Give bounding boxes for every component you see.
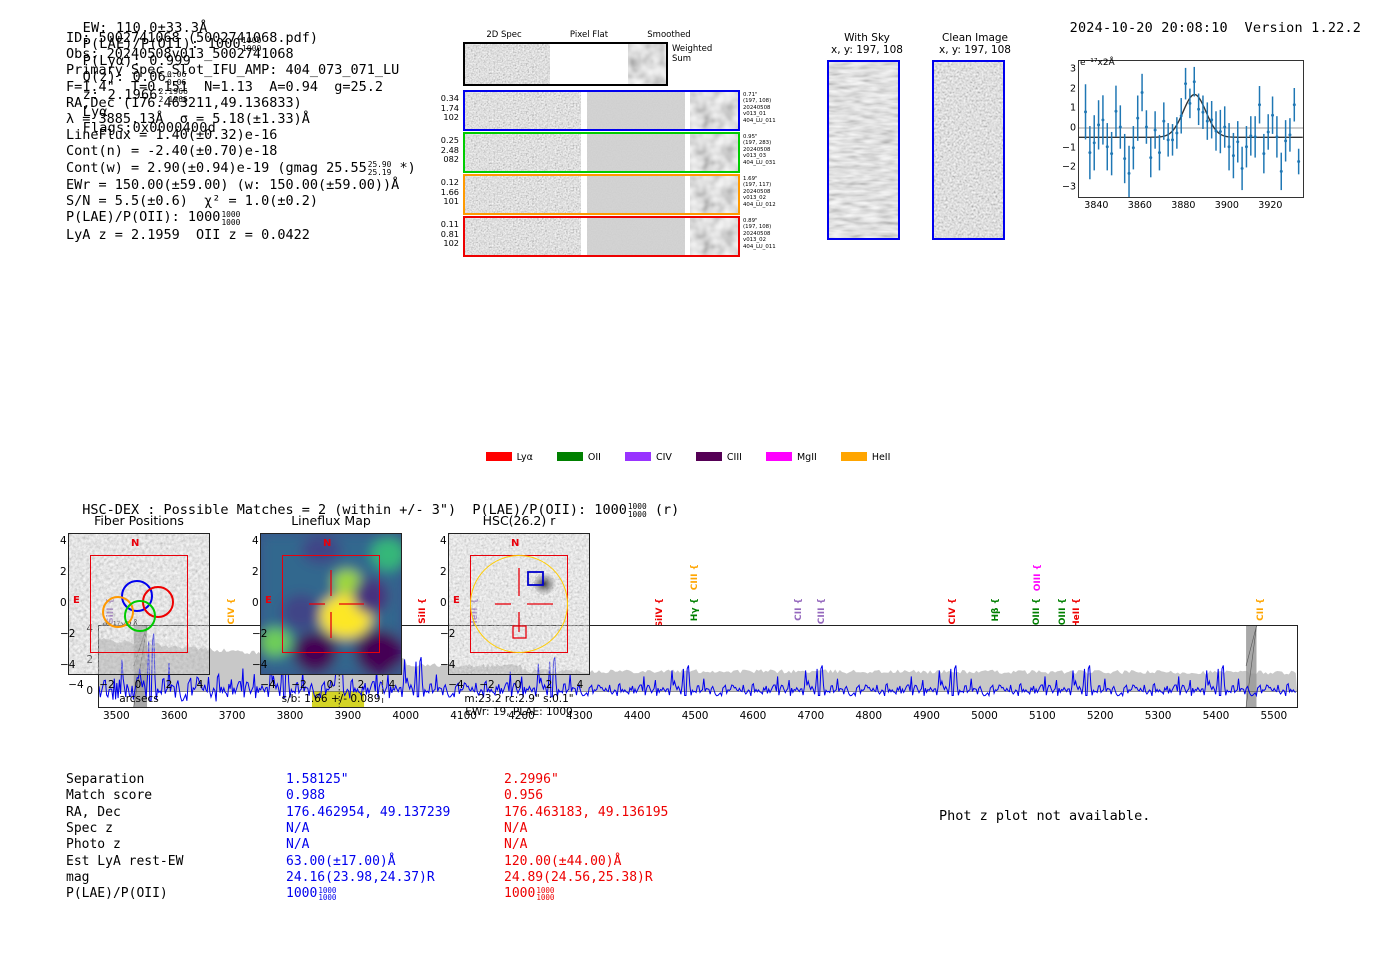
fiber-circle-green	[124, 600, 156, 632]
hsc-r-image	[448, 533, 590, 675]
emission-line-label-oiii-14: OIII {	[1058, 598, 1068, 625]
legend-swatch-civ	[625, 452, 651, 461]
legend-item-lyα: Lyα	[486, 452, 533, 463]
line-fit-ytick: −1	[1062, 142, 1076, 153]
cutout-ytick: 0	[60, 597, 62, 609]
line-fit-ytick: −3	[1062, 182, 1076, 193]
spectrum-xtick: 3500	[103, 710, 130, 722]
spectrum-xtick: 4600	[740, 710, 767, 722]
cutout-ytick: −2	[60, 628, 62, 640]
cutout-ytick: 4	[60, 535, 62, 547]
header-datetime: 2024-10-20 20:08:10	[1070, 20, 1228, 36]
fiber-info-1: 0.95"(197, 283)20240508v013_03404_LU_031	[743, 134, 776, 166]
fiber-row-0	[463, 90, 740, 131]
fiber-info-1-line1: (197, 283)	[743, 140, 776, 146]
match-col1-value-4: N/A	[286, 837, 309, 853]
line-fit-xtick: 3860	[1128, 200, 1152, 211]
info-cont-n: Cont(n) = -2.40(±0.70)e-18	[66, 143, 416, 159]
spectrum-xtick: 4500	[682, 710, 709, 722]
match-label-2: RA, Dec	[66, 805, 121, 821]
match-col1-value-5: 63.00(±17.00)Å	[286, 854, 396, 870]
fiber-values-0: 0.341.74102	[425, 94, 459, 123]
info-sn-chi2: S/N = 5.5(±0.6) χ² = 1.0(±0.2)	[66, 193, 416, 209]
spectrum-xtick: 5100	[1029, 710, 1056, 722]
hsc-r-caption-line1: m:23.2 rc:2.9" s:0.1"	[434, 693, 604, 706]
spec2d-col-header-smoothed: Smoothed	[629, 30, 709, 40]
emission-line-label-oiii-12: OIII {	[1033, 564, 1043, 591]
info-ewr: EWr = 150.00(±59.00) (w: 150.00(±59.00))…	[66, 177, 416, 193]
cutout-ytick: −4	[60, 659, 62, 671]
match-label-1: Match score	[66, 788, 152, 804]
line-fit-data	[1079, 61, 1303, 197]
photz-note: Phot z plot not available.	[939, 808, 1150, 824]
spectrum-xtick: 5300	[1145, 710, 1172, 722]
with-sky-noise	[829, 62, 898, 238]
fiber-row-1	[463, 132, 740, 173]
line-fit-xtick: 3840	[1084, 200, 1108, 211]
legend-item-ciii: CIII	[696, 452, 742, 463]
match-col1-value-6: 24.16(23.98,24.37)R	[286, 870, 435, 886]
emission-line-label-hγ-6: Hγ {	[690, 598, 700, 621]
line-fit-ytick: 0	[1070, 123, 1076, 134]
cutout-xtick: 4	[389, 679, 396, 691]
spec2d-weighted-sum-label: Weighted Sum	[672, 44, 712, 64]
info-plae-text: P(LAE)/P(OII): 1000	[66, 209, 220, 225]
header-version: Version 1.22.2	[1245, 20, 1362, 36]
fiber-positions-image	[68, 533, 210, 675]
line-fit-ytick: 1	[1070, 103, 1076, 114]
source-info-block: ID: 5002741068 (5002741068.pdf) Obs: 202…	[66, 30, 416, 243]
cutout-ytick: 0	[440, 597, 442, 609]
info-primary-spec-slot: Primary Spec_Slot_IFU_AMP: 404_073_071_L…	[66, 62, 416, 78]
spectrum-xtick: 4900	[913, 710, 940, 722]
info-cont-w-suffix: *)	[391, 160, 415, 176]
cutout-ytick: −4	[440, 659, 442, 671]
legend-item-heii: HeII	[841, 452, 891, 463]
spec2d-col-header-pixelflat: Pixel Flat	[549, 30, 629, 40]
spectrum-xtick: 4700	[797, 710, 824, 722]
fiber-info-3: 0.89"(197, 108)20240508v013_02404_LU_011	[743, 218, 776, 250]
line-fit-ytick: 3	[1070, 63, 1076, 74]
emission-line-label-oiii-13: OIII {	[1032, 598, 1042, 625]
emission-line-label-ciii-9: CIII {	[817, 598, 827, 624]
match-label-5: Est LyA rest-EW	[66, 854, 183, 870]
info-id: ID: 5002741068 (5002741068.pdf)	[66, 30, 416, 46]
match-col2-fraction: 10001000	[536, 887, 554, 902]
legend-label-lyα: Lyα	[517, 452, 533, 463]
info-cont-w: Cont(w) = 2.90(±0.94)e-19 (gmag 25.5525.…	[66, 160, 416, 177]
clean-image-noise	[934, 62, 1003, 238]
fiber-row-image-3	[465, 218, 738, 256]
hsc-r-north: N	[511, 538, 519, 549]
info-plae: P(LAE)/P(OII): 100010001000	[66, 209, 416, 226]
emission-line-label-siii-3: SiII {	[418, 598, 428, 624]
match-col2-value-1: 0.956	[504, 788, 543, 804]
lineflux-map-east: E	[265, 595, 272, 606]
spectrum-xtick: 4400	[624, 710, 651, 722]
match-col2-value-2: 176.463183, 49.136195	[504, 805, 668, 821]
header-datetime-version: 2024-10-20 20:08:10 Version 1.22.2	[1053, 4, 1361, 36]
spectrum-xtick: 4800	[855, 710, 882, 722]
fiber-positions-xlabel: arcsecs	[54, 693, 224, 706]
cutout-xtick: 0	[135, 679, 142, 691]
fiber-row-image-1	[465, 134, 738, 172]
cutout-fiber-positions: Fiber Positions N E arcsecs −4−2024420−2…	[68, 533, 210, 675]
match-col2-value-3: N/A	[504, 821, 527, 837]
line-fit-unit-label: e⁻¹⁷x2Å	[1080, 58, 1115, 68]
info-cont-w-text: Cont(w) = 2.90(±0.94)e-19 (gmag 25.55	[66, 160, 367, 176]
match-label-0: Separation	[66, 772, 144, 788]
match-col1-value-2: 176.462954, 49.137239	[286, 805, 450, 821]
spectrum-xtick: 3800	[277, 710, 304, 722]
cutout-lineflux-map: Lineflux Map	[260, 533, 402, 675]
full-spectrum-section: e⁻¹⁷x2Å SiII {CIV {NV {SiII {HeII {SiIV …	[0, 280, 1400, 460]
info-gmag-fraction: 25.9025.19	[368, 161, 392, 177]
cutout-hsc-r: HSC(26.2) r	[448, 533, 590, 675]
fiber-info-0-line4: 404_LU_011	[743, 118, 776, 124]
line-fit-ytick: 2	[1070, 83, 1076, 94]
fiber-info-2-line1: (197, 117)	[743, 182, 776, 188]
lineflux-map-image	[260, 533, 402, 675]
legend-item-mgii: MgII	[766, 452, 817, 463]
legend-label-heii: HeII	[872, 452, 891, 463]
fiber-row-image-0	[465, 92, 738, 130]
emission-line-label-civ-10: CIV {	[948, 598, 958, 624]
emission-line-label-hβ-11: Hβ {	[991, 598, 1001, 622]
info-lambda-sigma: λ = 3885.13Å σ = 5.18(±1.33)Å	[66, 111, 416, 127]
legend-swatch-ciii	[696, 452, 722, 461]
line-fit-axes: −3−2−1012338403860388039003920	[1078, 60, 1304, 198]
match-col1-value-0: 1.58125"	[286, 772, 349, 788]
spectrum-xtick: 3900	[334, 710, 361, 722]
match-col2-value-7: 100010001000	[504, 886, 554, 902]
spectrum-xtick: 5200	[1087, 710, 1114, 722]
cutout-ytick: 2	[60, 566, 62, 578]
legend-swatch-mgii	[766, 452, 792, 461]
match-col2-value-0: 2.2996"	[504, 772, 559, 788]
fiber-row-2	[463, 174, 740, 215]
match-col2-value-4: N/A	[504, 837, 527, 853]
fiber-row-3	[463, 216, 740, 257]
fiber-positions-title: Fiber Positions	[68, 513, 210, 528]
emission-line-label-siiv-5: SiIV {	[655, 598, 665, 627]
cutout-ytick: −4	[252, 659, 254, 671]
fiber-info-0-line1: (197, 108)	[743, 98, 776, 104]
legend-item-civ: CIV	[625, 452, 672, 463]
spectrum-xtick: 5000	[971, 710, 998, 722]
spectrum-xtick: 5400	[1203, 710, 1230, 722]
match-col2-value-5: 120.00(±44.00)Å	[504, 854, 621, 870]
weighted-sum-noise-image	[465, 44, 666, 84]
fiber-info-2-line4: 404_LU_012	[743, 202, 776, 208]
with-sky-image	[827, 60, 900, 240]
fiber-info-2: 1.69"(197, 117)20240508v013_02404_LU_012	[743, 176, 776, 208]
cutout-xtick: −2	[479, 679, 494, 691]
legend-item-oii: OII	[557, 452, 601, 463]
fiber-info-0: 0.71"(197, 108)20240508v013_01404_LU_011	[743, 92, 776, 124]
cutout-ytick: 4	[252, 535, 254, 547]
spectrum-xtick: 3600	[161, 710, 188, 722]
cutout-ytick: −2	[252, 628, 254, 640]
clean-image-image	[932, 60, 1005, 240]
match-label-3: Spec z	[66, 821, 113, 837]
clean-image-xy: x, y: 197, 108	[925, 44, 1025, 56]
with-sky-caption: With Sky x, y: 197, 108	[822, 32, 912, 56]
clean-image-title: Clean Image	[925, 32, 1025, 44]
fiber-values-2: 0.121.66101	[425, 178, 459, 207]
cutout-ytick: 2	[252, 566, 254, 578]
weighted-sum-line2: Sum	[672, 54, 712, 64]
fiber-positions-north: N	[131, 538, 139, 549]
spec2d-weighted-sum-strip	[463, 42, 668, 86]
lineflux-map-north: N	[323, 538, 331, 549]
legend-swatch-oii	[557, 452, 583, 461]
with-sky-title: With Sky	[822, 32, 912, 44]
with-sky-xy: x, y: 197, 108	[822, 44, 912, 56]
hsc-r-title: HSC(26.2) r	[448, 513, 590, 528]
match-col1-value-7: 100010001000	[286, 886, 336, 902]
emission-line-label-cii-16: CII {	[1256, 598, 1266, 621]
line-fit-xtick: 3900	[1215, 200, 1239, 211]
line-fit-ytick: −2	[1062, 162, 1076, 173]
lineflux-map-crosshair	[261, 534, 401, 674]
cutout-ytick: 0	[252, 597, 254, 609]
fiber-info-3-line1: (197, 108)	[743, 224, 776, 230]
weighted-sum-line1: Weighted	[672, 44, 712, 54]
cutout-xtick: 4	[577, 679, 584, 691]
emission-line-label-cii-8: CII {	[794, 598, 804, 621]
cutout-ytick: 4	[440, 535, 442, 547]
cutout-xtick: −4	[260, 679, 275, 691]
info-redshifts: LyA z = 2.1959 OII z = 0.0422	[66, 227, 416, 243]
spectrum-xtick: 5500	[1260, 710, 1287, 722]
legend-label-ciii: CIII	[727, 452, 742, 463]
cutout-ytick: −2	[440, 628, 442, 640]
emission-line-label-ciii-7: CIII {	[690, 564, 700, 590]
spectrum-xtick: 3700	[219, 710, 246, 722]
cutout-xtick: 0	[515, 679, 522, 691]
fiber-values-1: 0.252.48082	[425, 136, 459, 165]
line-fit-xtick: 3880	[1171, 200, 1195, 211]
fiber-values-3: 0.110.81102	[425, 220, 459, 249]
fiber-info-1-line4: 404_LU_031	[743, 160, 776, 166]
emission-line-label-heii-15: HeII {	[1072, 598, 1082, 628]
match-col1-value-1: 0.988	[286, 788, 325, 804]
line-fit-xtick: 3920	[1258, 200, 1282, 211]
match-col1-fraction: 10001000	[318, 887, 336, 902]
fiber-info-3-line4: 404_LU_011	[743, 244, 776, 250]
hsc-r-caption-line2: EWr: 19, PLAE: 1000	[434, 706, 604, 719]
match-col1-value-3: N/A	[286, 821, 309, 837]
cutout-xtick: 0	[327, 679, 334, 691]
spectrum-xtick: 4000	[392, 710, 419, 722]
fiber-positions-east: E	[73, 595, 80, 606]
cutout-ytick: 2	[440, 566, 442, 578]
legend-label-civ: CIV	[656, 452, 672, 463]
cutout-xtick: 2	[166, 679, 173, 691]
legend-swatch-lyα	[486, 452, 512, 461]
match-label-6: mag	[66, 870, 89, 886]
spec2d-panel: 2D Spec Pixel Flat Smoothed	[425, 30, 795, 262]
match-label-7: P(LAE)/P(OII)	[66, 886, 168, 902]
emission-line-label-civ-1: CIV {	[227, 598, 237, 624]
hsc-r-east: E	[453, 595, 460, 606]
fiber-row-image-2	[465, 176, 738, 214]
hsc-dex-plae-fraction: 10001000	[628, 503, 647, 519]
cutout-xtick: −4	[448, 679, 463, 691]
info-ra-dec: RA,Dec (176.463211,49.136833)	[66, 95, 416, 111]
cutout-xtick: 2	[358, 679, 365, 691]
legend-swatch-heii	[841, 452, 867, 461]
clean-image-caption: Clean Image x, y: 197, 108	[925, 32, 1025, 56]
info-obs: Obs: 20240508v013_5002741068	[66, 46, 416, 62]
match-label-4: Photo z	[66, 837, 121, 853]
legend-label-mgii: MgII	[797, 452, 817, 463]
cutout-xtick: −2	[291, 679, 306, 691]
cutout-xtick: −2	[99, 679, 114, 691]
spec2d-col-header-2dspec: 2D Spec	[459, 30, 549, 40]
cutout-xtick: 4	[197, 679, 204, 691]
legend-label-oii: OII	[588, 452, 601, 463]
line-fit-plot: e⁻¹⁷x2Å −3−2−1012338403860388039003920	[1038, 52, 1310, 224]
hsc-r-crosshair	[449, 534, 589, 674]
lineflux-map-title: Lineflux Map	[260, 513, 402, 528]
info-seeing-params: F=1.4" T=0.151 N=1.13 A=0.94 g=25.2	[66, 79, 416, 95]
cutout-xtick: −4	[68, 679, 83, 691]
match-col2-value-6: 24.89(24.56,25.38)R	[504, 870, 653, 886]
lineflux-map-caption: s/b: 1.66 +/- 0.089	[246, 693, 416, 706]
spectrum-legend: LyαOIICIVCIIIMgIIHeII	[0, 452, 1400, 463]
hsc-dex-suffix: (r)	[647, 502, 680, 518]
info-lineflux: LineFlux = 1.40(±0.32)e-16	[66, 127, 416, 143]
cutout-xtick: 2	[546, 679, 553, 691]
info-plae-fraction: 10001000	[221, 211, 240, 227]
